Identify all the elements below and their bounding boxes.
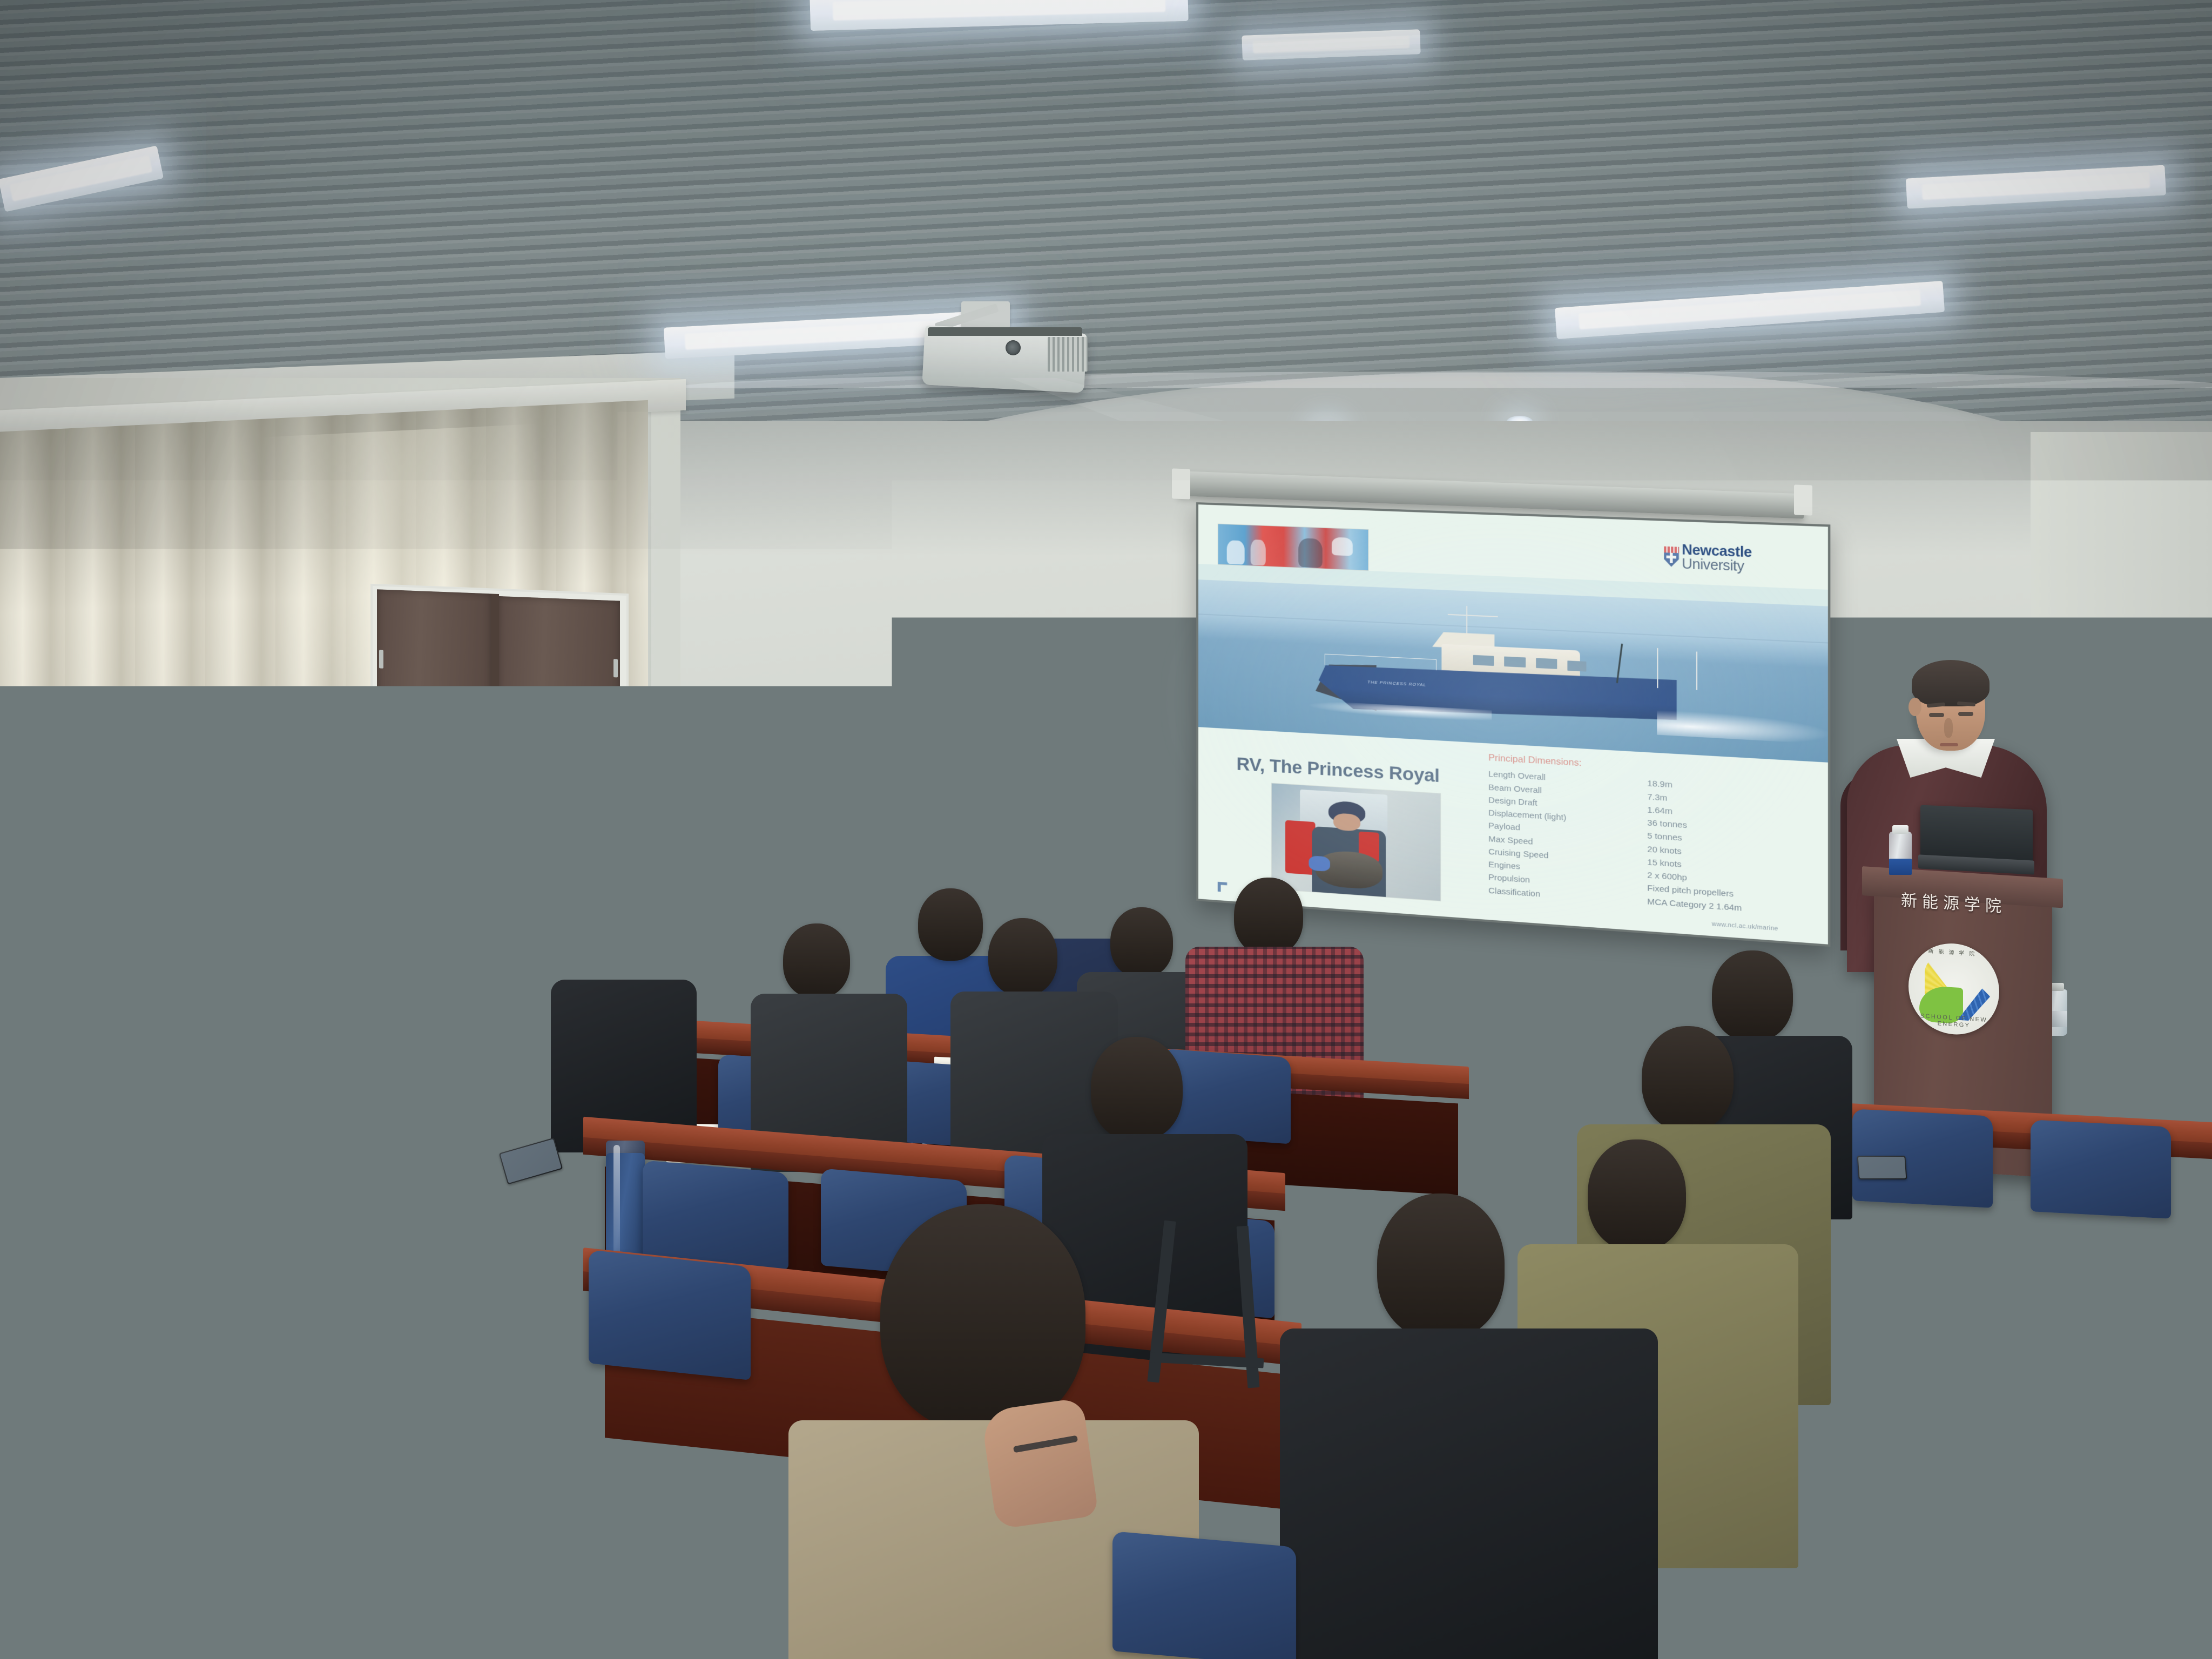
banner-figure bbox=[1227, 541, 1245, 565]
projection-screen-surface: Newcastle University bbox=[1198, 504, 1828, 945]
projector-top-panel bbox=[928, 327, 1082, 336]
wall-signage-plate[interactable] bbox=[345, 832, 372, 845]
logo-line-2: University bbox=[1682, 557, 1751, 574]
chair[interactable] bbox=[589, 1250, 751, 1380]
screen-housing-end-cap bbox=[1794, 484, 1812, 515]
ship-aft-crane bbox=[1616, 644, 1622, 684]
glasses-bridge bbox=[348, 1081, 358, 1083]
ship-window bbox=[1567, 661, 1586, 672]
chair[interactable] bbox=[2031, 1410, 2193, 1529]
ship-aft-post bbox=[1657, 648, 1658, 688]
wall-plate-label bbox=[345, 837, 372, 842]
ship-window bbox=[1504, 656, 1526, 667]
person-head bbox=[1110, 907, 1173, 977]
school-of-new-energy-emblem: 新能源学院 SCHOOL OF NEW ENERGY bbox=[1908, 941, 1999, 1037]
person-head bbox=[673, 896, 731, 962]
presenter-eye bbox=[1929, 713, 1944, 717]
person-head bbox=[918, 888, 983, 961]
water-bottle-label bbox=[1889, 859, 1912, 875]
projector-lens bbox=[1006, 340, 1021, 355]
screen-housing-end-cap bbox=[1172, 468, 1190, 499]
door-hinge bbox=[379, 754, 383, 773]
university-wordmark: Newcastle University bbox=[1682, 543, 1751, 574]
person-head bbox=[292, 1021, 383, 1127]
chair[interactable] bbox=[1955, 1265, 2106, 1377]
smartphone-on-desk[interactable] bbox=[1857, 1156, 1907, 1179]
person-head bbox=[1588, 1139, 1686, 1251]
person-head bbox=[1234, 878, 1303, 955]
door-hinge bbox=[613, 734, 618, 753]
phone-screen bbox=[1858, 1157, 1906, 1178]
door-hinge bbox=[613, 659, 618, 677]
ship-aft-post bbox=[1696, 652, 1697, 691]
thermos-highlight bbox=[613, 1145, 620, 1264]
researcher-with-seal-photo bbox=[1271, 783, 1441, 901]
ship-window bbox=[1536, 658, 1557, 669]
chair[interactable] bbox=[0, 1247, 151, 1378]
ship-wake bbox=[1657, 710, 1828, 744]
backpack-on-table[interactable] bbox=[2058, 1033, 2203, 1096]
presenter-ear bbox=[1908, 698, 1921, 716]
person-head bbox=[103, 875, 166, 946]
chair[interactable] bbox=[1847, 1404, 2009, 1523]
person-head bbox=[189, 918, 249, 986]
water-bottle-cap bbox=[1892, 825, 1908, 834]
door-hinge bbox=[379, 650, 383, 668]
chair[interactable] bbox=[643, 1160, 788, 1270]
shield-crown bbox=[1664, 546, 1679, 552]
wall-access-panel[interactable] bbox=[346, 798, 373, 823]
ship-window bbox=[1473, 655, 1494, 665]
door-center-mullion bbox=[491, 594, 499, 969]
glasses bbox=[355, 1075, 387, 1095]
presentation-slide: Newcastle University bbox=[1198, 504, 1828, 945]
ship-mast bbox=[1467, 606, 1468, 636]
sea-horizon-line bbox=[1198, 613, 1828, 643]
foreground-person-hand bbox=[981, 1398, 1099, 1529]
door-leaf-left[interactable] bbox=[377, 589, 491, 968]
presenter-mouth bbox=[1940, 743, 1958, 746]
laptop-screen[interactable] bbox=[1920, 805, 2033, 864]
newcastle-university-logo: Newcastle University bbox=[1664, 537, 1808, 582]
projection-screen[interactable]: Newcastle University bbox=[1196, 502, 1830, 947]
person-head bbox=[308, 907, 367, 973]
door-inlay-strip bbox=[528, 731, 617, 737]
ship-mast-crossbar bbox=[1448, 614, 1498, 617]
door-inlay-strip bbox=[528, 841, 617, 847]
university-shield-icon bbox=[1664, 546, 1679, 567]
person-head bbox=[383, 929, 440, 993]
shield-cross-horizontal bbox=[1666, 556, 1676, 559]
presenter-hair bbox=[1912, 660, 1990, 706]
slide-banner-photo-strip bbox=[1217, 523, 1368, 571]
person-torso bbox=[1280, 1328, 1658, 1659]
person-head bbox=[1642, 1026, 1734, 1131]
banner-figure bbox=[1332, 537, 1353, 556]
dimensions-rows: Length Overall18.9mBeam Overall7.3mDesig… bbox=[1488, 768, 1798, 919]
person-head bbox=[1712, 950, 1793, 1041]
person-head bbox=[1091, 1037, 1183, 1141]
person-head bbox=[1377, 1193, 1505, 1339]
person-head bbox=[783, 923, 850, 998]
chair[interactable] bbox=[2031, 1120, 2171, 1219]
banner-figure bbox=[1251, 539, 1266, 565]
presenter-nose bbox=[1944, 718, 1953, 738]
presenter-eye bbox=[1958, 712, 1973, 716]
banner-figure bbox=[1298, 538, 1323, 568]
chair[interactable] bbox=[254, 1498, 432, 1641]
lecture-hall-scene: Newcastle University bbox=[0, 0, 2212, 1659]
person-head bbox=[880, 1204, 1085, 1431]
person-head bbox=[988, 918, 1057, 996]
door-glass-panel bbox=[458, 703, 480, 968]
photo-blue-glove bbox=[1309, 855, 1330, 872]
projector-vent bbox=[1048, 337, 1088, 372]
principal-dimensions-block: Principal Dimensions: Length Overall18.9… bbox=[1488, 751, 1798, 935]
person-head bbox=[578, 913, 642, 984]
door-lock[interactable] bbox=[510, 916, 520, 927]
person-head bbox=[486, 967, 555, 1044]
chair[interactable] bbox=[1112, 1531, 1296, 1659]
door-frame bbox=[373, 586, 626, 974]
